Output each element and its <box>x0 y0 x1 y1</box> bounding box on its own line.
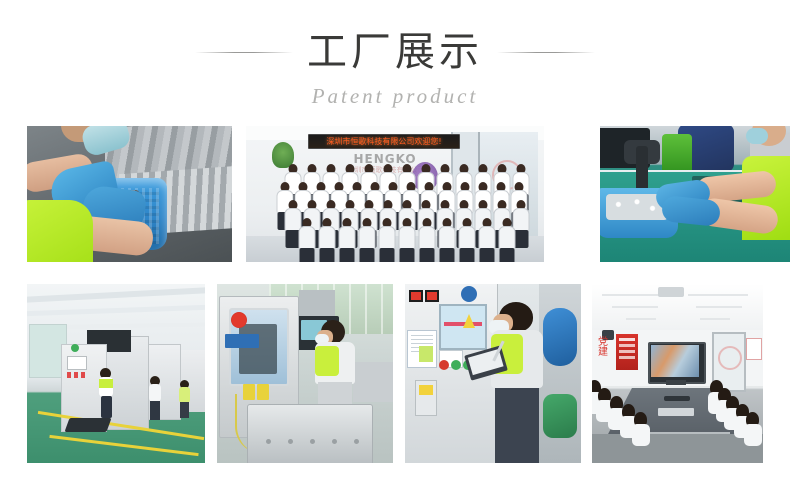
title-rule-left <box>195 52 293 53</box>
indicator-light <box>451 360 461 370</box>
group-photo-person <box>438 218 456 262</box>
section-header: 工厂展示 Patent product <box>0 0 790 118</box>
group-photo-person <box>298 218 316 262</box>
title-row: 工厂展示 <box>0 26 790 78</box>
photo-microscope-inspection <box>600 126 790 262</box>
photo-meeting-room: 党建 <box>592 284 763 463</box>
photo-packing-inspection <box>27 126 232 262</box>
group-photo-person <box>478 218 496 262</box>
indicator-light <box>439 360 449 370</box>
led-banner: 深圳市恒歌科技有限公司欢迎您! <box>308 134 460 149</box>
photo-qc-recording <box>405 284 581 463</box>
title-rule-right <box>497 52 595 53</box>
meeting-attendee <box>746 412 762 448</box>
photo-company-group: 深圳市恒歌科技有限公司欢迎您! HENGKO 深圳市恒歌科技有限公司 <box>246 126 544 262</box>
page-subtitle: Patent product <box>0 84 790 109</box>
photo-production-line <box>27 284 205 463</box>
group-photo-person <box>338 218 356 262</box>
meeting-attendee <box>634 412 650 448</box>
group-photo-person <box>498 218 516 262</box>
page-title: 工厂展示 <box>307 28 483 76</box>
factory-display-banner: 工厂展示 Patent product <box>0 0 790 493</box>
photo-cnc-machine <box>217 284 393 463</box>
led-banner-text: 深圳市恒歌科技有限公司欢迎您! <box>309 135 459 148</box>
group-photo-person <box>418 218 436 262</box>
group-photo-person <box>318 218 336 262</box>
group-photo-person <box>378 218 396 262</box>
group-photo-person <box>458 218 476 262</box>
wall-calligraphy: 党建 <box>598 338 614 368</box>
group-photo-person <box>398 218 416 262</box>
group-photo-person <box>358 218 376 262</box>
